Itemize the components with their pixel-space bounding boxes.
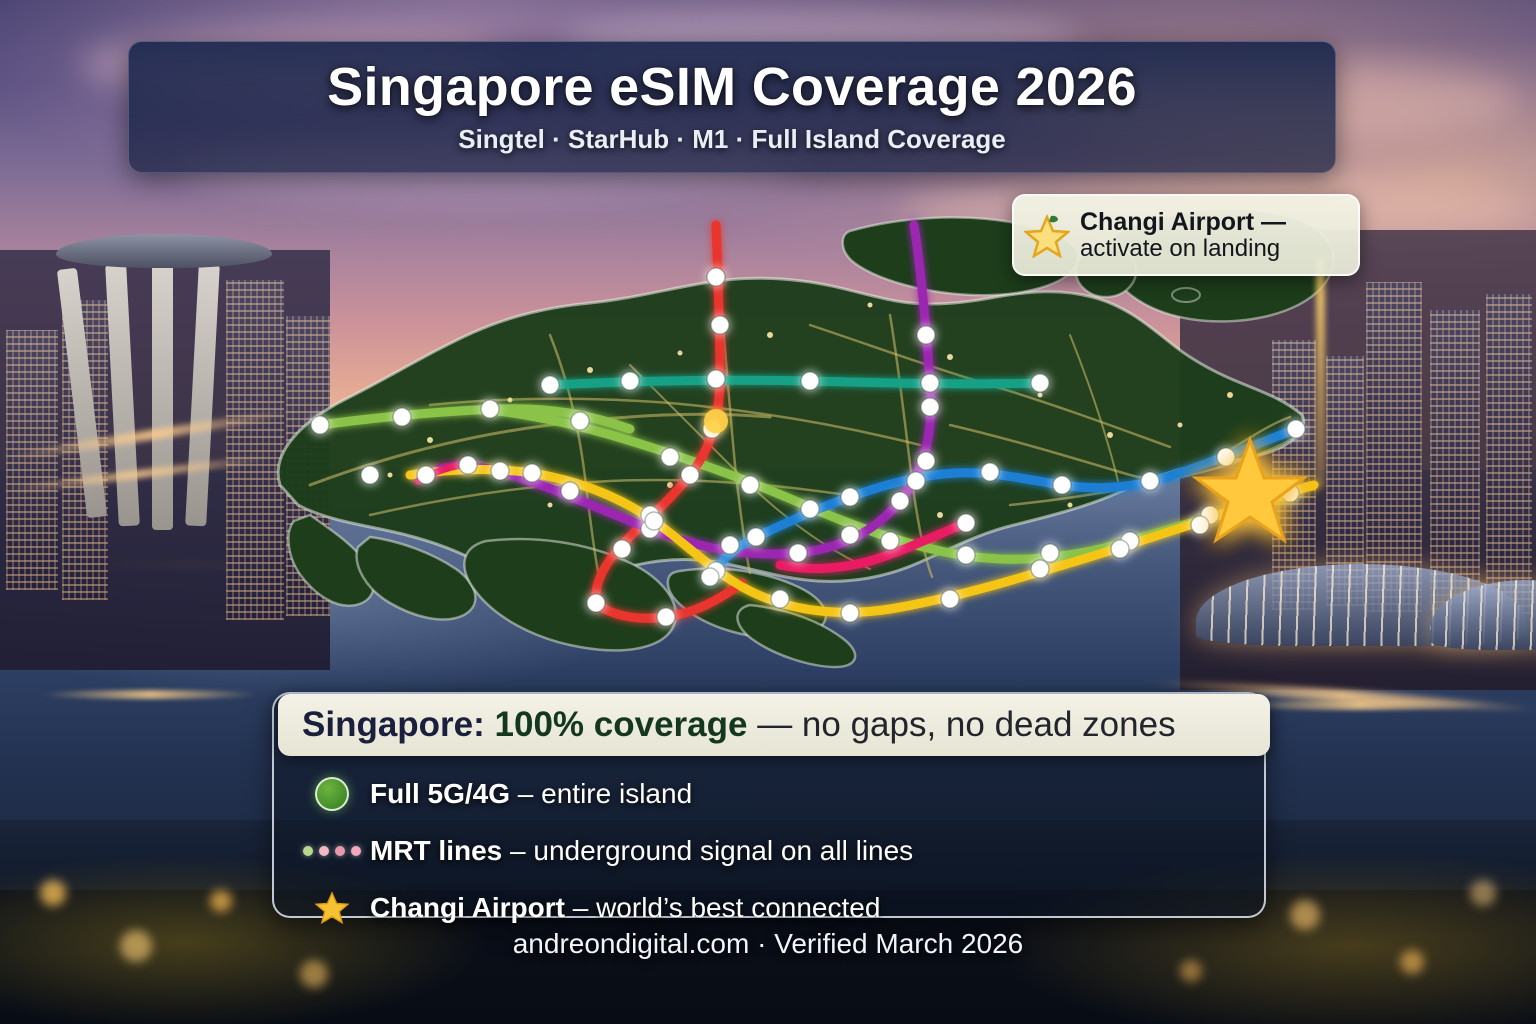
bokeh-light: [300, 960, 328, 988]
mrt-dot: [335, 846, 345, 856]
marina-bay-sands-skypark: [56, 234, 272, 268]
bokeh-light: [210, 890, 232, 912]
infographic-canvas: Singapore eSIM Coverage 2026 Singtel · S…: [0, 0, 1536, 1024]
legend-item-text: Changi Airport – world’s best connected: [370, 892, 880, 924]
bokeh-light: [1290, 900, 1320, 930]
callout-line-1: Changi Airport —: [1080, 209, 1286, 236]
mrt-dots-icon: [310, 846, 354, 856]
legend-item-text: Full 5G/4G – entire island: [370, 778, 692, 810]
legend-item-description: – world’s best connected: [565, 892, 880, 923]
bokeh-light: [1180, 960, 1202, 982]
bokeh-light: [1470, 880, 1496, 906]
legend-item-description: – entire island: [510, 778, 692, 809]
changi-airport-callout[interactable]: Changi Airport — activate on landing: [1012, 194, 1360, 276]
coverage-headline-strip: Singapore: 100% coverage — no gaps, no d…: [278, 694, 1270, 756]
page-title: Singapore eSIM Coverage 2026: [327, 59, 1137, 116]
legend-item-mrt-lines[interactable]: MRT lines – underground signal on all li…: [310, 832, 913, 870]
legend-item-label: Full 5G/4G: [370, 778, 510, 809]
legend-item-description: – underground signal on all lines: [502, 835, 913, 866]
water-reflection: [40, 690, 260, 699]
star-icon: [310, 891, 354, 925]
headline-part-b: 100% coverage: [495, 705, 748, 744]
green-circle-icon: [310, 777, 354, 811]
interchange-glow: [704, 409, 728, 433]
callout-text: Changi Airport — activate on landing: [1080, 209, 1286, 262]
headline-part-c: — no gaps, no dead zones: [747, 705, 1175, 744]
coverage-headline: Singapore: 100% coverage — no gaps, no d…: [302, 705, 1176, 745]
title-panel: Singapore eSIM Coverage 2026 Singtel · S…: [128, 41, 1336, 173]
skyscraper: [1486, 294, 1532, 614]
footer-attribution: andreondigital.com · Verified March 2026: [0, 928, 1536, 960]
legend-items: Full 5G/4G – entire island MRT lines – u…: [310, 775, 913, 927]
changi-beacon-beam: [1316, 258, 1325, 488]
bokeh-light: [40, 880, 66, 906]
callout-line-2: activate on landing: [1080, 236, 1286, 262]
mrt-dot: [303, 846, 313, 856]
star-icon: [1024, 212, 1070, 258]
skyscraper: [6, 330, 58, 590]
mrt-dot: [319, 846, 329, 856]
legend-item-full-5g[interactable]: Full 5G/4G – entire island: [310, 775, 913, 813]
legend-item-label: MRT lines: [370, 835, 502, 866]
page-subtitle: Singtel · StarHub · M1 · Full Island Cov…: [458, 124, 1006, 155]
skyscraper: [1430, 310, 1480, 610]
legend-item-text: MRT lines – underground signal on all li…: [370, 835, 913, 867]
skyscraper: [1366, 282, 1422, 612]
headline-part-a: Singapore:: [302, 705, 495, 744]
mrt-dot: [351, 846, 361, 856]
legend-item-label: Changi Airport: [370, 892, 565, 923]
marina-bay-sands-tower: [152, 262, 173, 530]
legend-item-changi-airport[interactable]: Changi Airport – world’s best connected: [310, 889, 913, 927]
